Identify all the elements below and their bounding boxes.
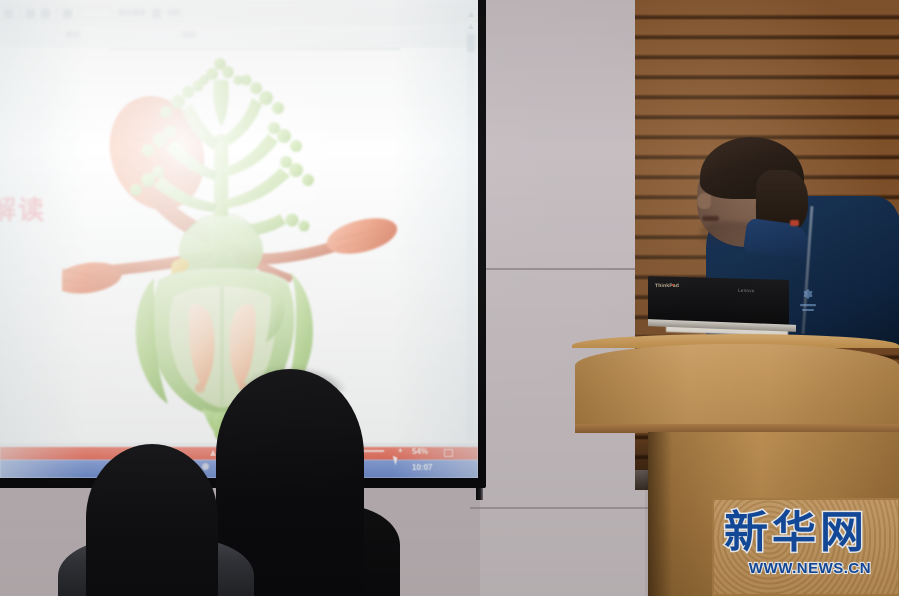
toolbar-divider: [19, 8, 20, 19]
view-label[interactable]: 视图: [167, 8, 181, 18]
taskbar-app-icon-3[interactable]: [202, 463, 209, 470]
stamen-right: [240, 212, 401, 260]
wall-seam-lower: [470, 507, 650, 509]
print-icon[interactable]: [63, 9, 72, 18]
zoom-box[interactable]: [78, 8, 112, 18]
flower-anatomy-diagram: [62, 40, 414, 440]
chest-emblem-icon: [795, 286, 821, 316]
scrollbar-thumb[interactable]: [467, 34, 475, 52]
undo-icon[interactable]: [26, 9, 35, 18]
redo-icon[interactable]: [41, 9, 50, 18]
watermark-chinese-text: 新华网: [724, 508, 896, 558]
watermark-url-text: WWW.NEWS.CN: [724, 560, 896, 577]
audience-head-front: [86, 444, 218, 596]
thinkpad-logo: ThinkPad: [655, 283, 679, 289]
ribbon-style-tag[interactable]: 样式: [66, 30, 80, 40]
file-icon[interactable]: [4, 9, 13, 18]
zoom-in-label[interactable]: +: [398, 446, 403, 455]
taskbar-clock[interactable]: 10:07: [412, 463, 432, 472]
toolbar-divider-2: [56, 8, 57, 19]
scrollbar[interactable]: [467, 30, 475, 440]
xinhua-watermark: 新华网 WWW.NEWS.CN: [724, 508, 896, 588]
wall-seam-upper: [470, 268, 650, 270]
ribbon-edit-tag[interactable]: 编辑: [182, 30, 196, 40]
fullscreen-icon[interactable]: [444, 449, 453, 457]
podium-side-shadow: [648, 432, 672, 596]
screenshot-scene: 查找替换 视图 样式 编辑 解读: [0, 0, 899, 596]
lenovo-logo: Lenovo: [738, 288, 755, 293]
view-icon[interactable]: [152, 9, 161, 18]
scroll-up-icon[interactable]: [468, 12, 474, 17]
slide-annotation-text: 解读: [0, 190, 46, 227]
speaker-mouth: [702, 216, 719, 221]
find-replace-label[interactable]: 查找替换: [118, 8, 146, 18]
thinkpad-logo-dot: [672, 284, 674, 286]
speaker-collar-tag: [790, 220, 799, 226]
scroll-down-icon[interactable]: [468, 24, 474, 29]
podium-front-panel: [575, 344, 899, 428]
zoom-percent-label[interactable]: 54%: [412, 447, 428, 456]
app-toolbar[interactable]: 查找替换 视图: [0, 0, 478, 26]
speaker-nose: [697, 193, 711, 209]
